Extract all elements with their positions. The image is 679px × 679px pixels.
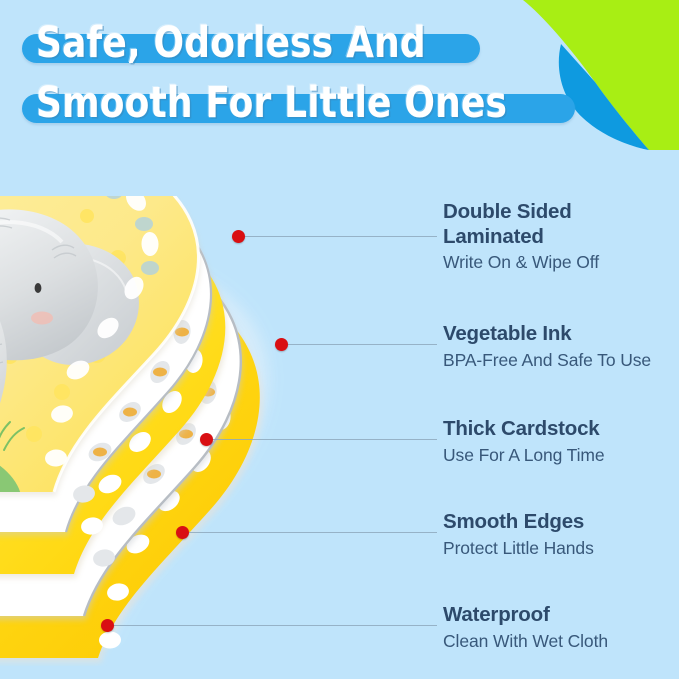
feature-subtitle: Use For A Long Time [443, 444, 605, 466]
feature-subtitle: BPA-Free And Safe To Use [443, 349, 651, 371]
feature-title: Waterproof [443, 603, 608, 628]
feature-subtitle: Write On & Wipe Off [443, 251, 599, 273]
feature-subtitle: Clean With Wet Cloth [443, 630, 608, 652]
feature-item-thick-cardstock: Thick Cardstock Use For A Long Time [443, 417, 605, 466]
feature-title: Double Sided Laminated [443, 200, 599, 249]
feature-item-double-sided-laminated: Double Sided Laminated Write On & Wipe O… [443, 200, 599, 273]
feature-item-smooth-edges: Smooth Edges Protect Little Hands [443, 510, 594, 559]
feature-title: Vegetable Ink [443, 322, 651, 347]
feature-title: Smooth Edges [443, 510, 594, 535]
infographic-canvas: Safe, Odorless And Smooth For Little One… [0, 0, 679, 679]
feature-item-vegetable-ink: Vegetable Ink BPA-Free And Safe To Use [443, 322, 651, 371]
feature-title: Thick Cardstock [443, 417, 605, 442]
feature-item-waterproof: Waterproof Clean With Wet Cloth [443, 603, 608, 652]
feature-subtitle: Protect Little Hands [443, 537, 594, 559]
feature-list: Double Sided Laminated Write On & Wipe O… [0, 0, 679, 679]
